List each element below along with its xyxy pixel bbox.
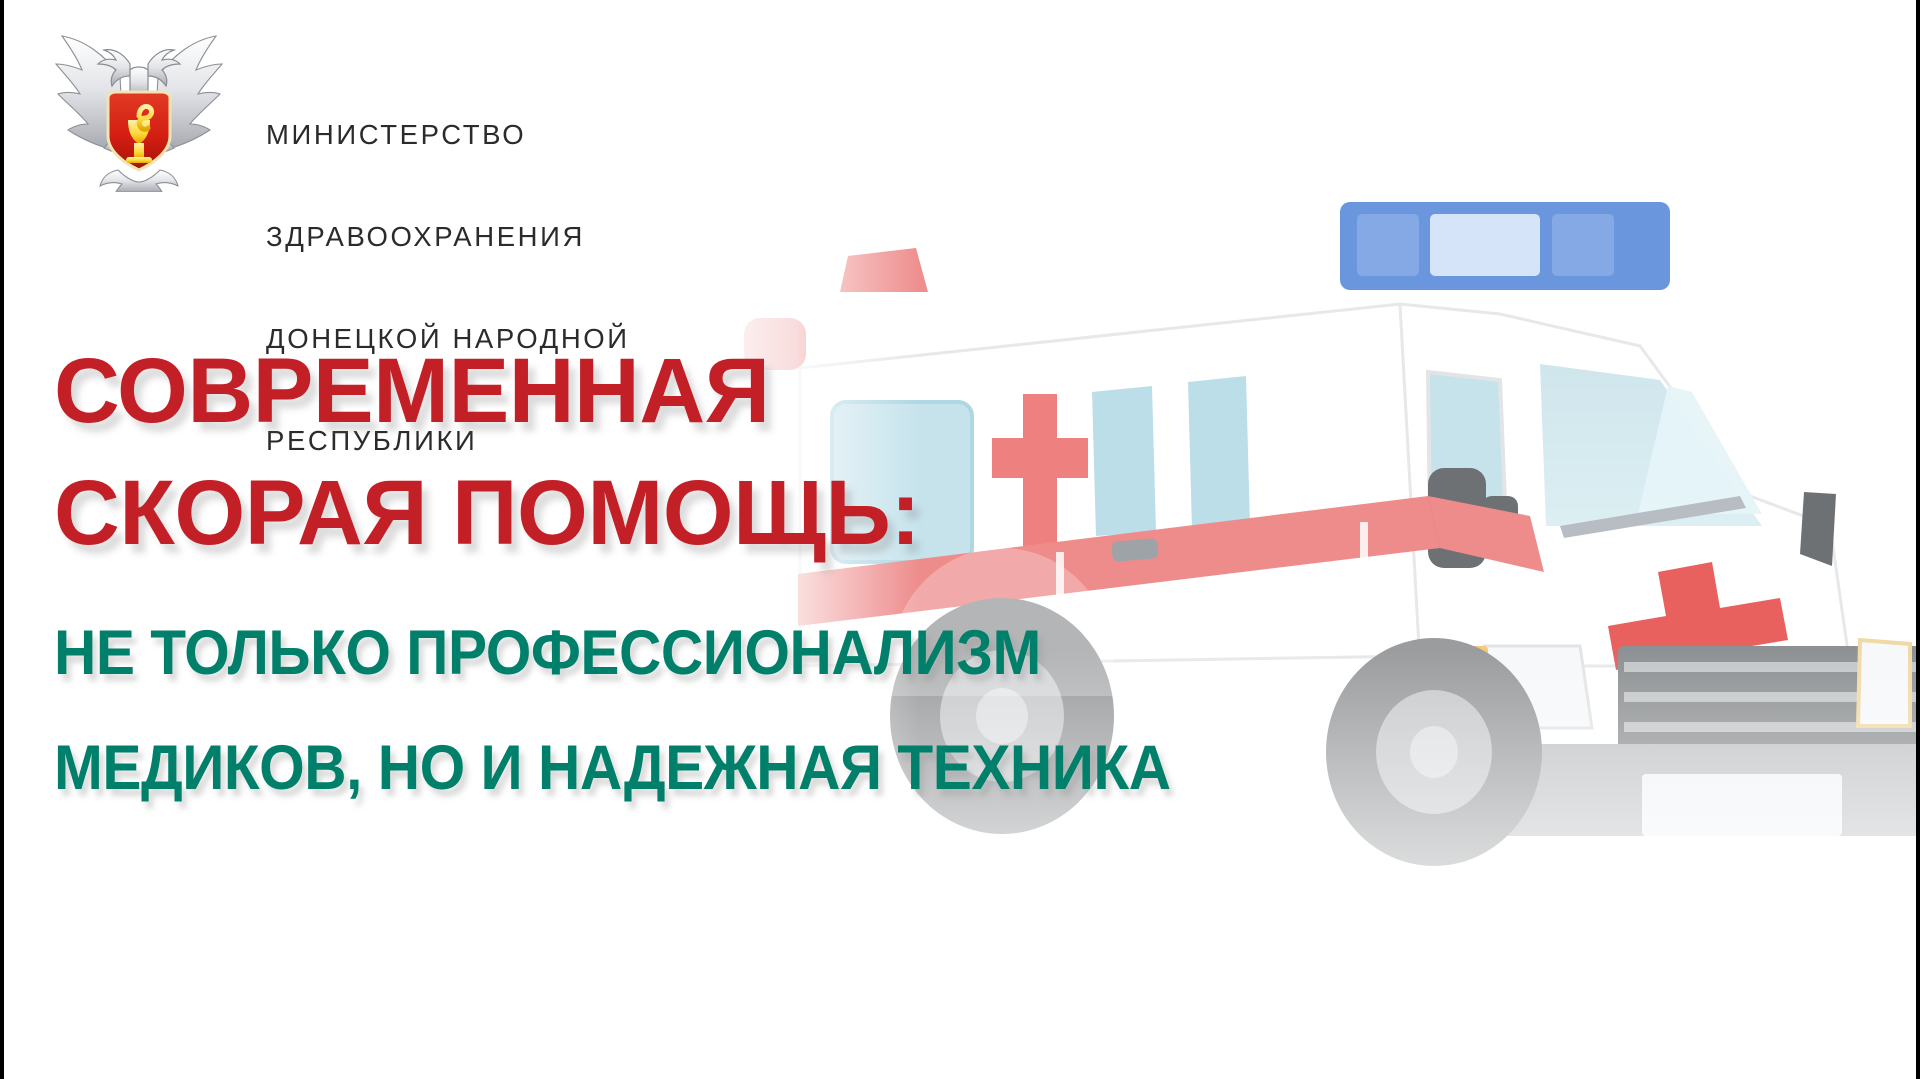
poster-canvas: МИНИСТЕРСТВО ЗДРАВООХРАНЕНИЯ ДОНЕЦКОЙ НА… [0, 0, 1920, 1079]
rear-beacon-icon [840, 248, 928, 292]
headline-green-line-1: НЕ ТОЛЬКО ПРОФЕССИОНАЛИЗМ [54, 596, 1171, 711]
front-bumper [1386, 744, 1918, 836]
side-mirror-right-icon [1800, 492, 1836, 566]
ministry-line-1: МИНИСТЕРСТВО [266, 118, 630, 152]
front-wheel-icon [1326, 638, 1542, 866]
front-red-cross-icon [1608, 562, 1788, 706]
headline-green-line-2: МЕДИКОВ, НО И НАДЕЖНАЯ ТЕХНИКА [54, 711, 1171, 826]
headlight-right-icon [1858, 640, 1910, 726]
headline-red-line-1: СОВРЕМЕННАЯ [54, 330, 1243, 452]
ministry-emblem-icon [46, 24, 232, 192]
front-grille-icon [1618, 646, 1920, 750]
side-mirror-icon [1428, 468, 1518, 568]
roof-light-bar-icon [1340, 202, 1670, 290]
headline-block: СОВРЕМЕННАЯ СКОРАЯ ПОМОЩЬ: НЕ ТОЛЬКО ПРО… [54, 330, 1255, 826]
headline-red-line-2: СКОРАЯ ПОМОЩЬ: [54, 452, 1243, 574]
left-edge-bar [0, 0, 4, 1079]
headlight-left-icon [1484, 646, 1592, 728]
turn-signal-icon [1440, 646, 1488, 730]
license-plate [1642, 774, 1842, 836]
cab-door-window [1428, 372, 1506, 526]
right-edge-bar [1916, 0, 1920, 1079]
wiper-icon [1560, 496, 1746, 538]
ministry-line-2: ЗДРАВООХРАНЕНИЯ [266, 220, 630, 254]
windshield [1540, 364, 1762, 526]
